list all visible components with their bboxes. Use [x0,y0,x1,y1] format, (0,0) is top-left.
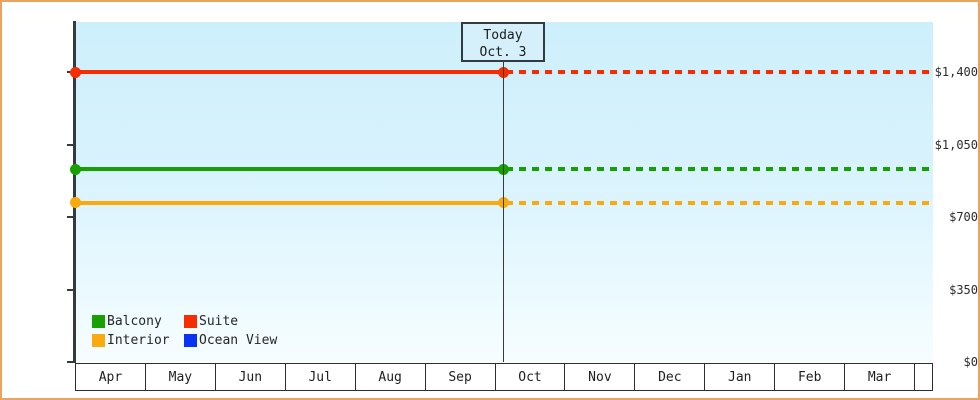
x-axis-month-cell[interactable]: Apr [76,364,146,390]
x-axis-month-cell[interactable]: Jul [286,364,356,390]
today-vertical-line [503,61,504,362]
series-line-actual-balcony [73,167,503,171]
x-axis-month-cell[interactable]: Sep [426,364,496,390]
x-axis-month-cell[interactable]: May [146,364,216,390]
legend-row: BalconySuite [92,312,276,331]
today-tooltip-line2: Oct. 3 [463,44,543,61]
x-axis-month-strip: AprMayJunJulAugSepOctNovDecJanFebMar [75,363,933,391]
x-axis-month-cell[interactable]: Jun [216,364,286,390]
y-axis-tick-label: $1,050 [918,139,978,151]
y-axis-tick [67,289,74,291]
series-point-start-suite[interactable] [70,67,81,78]
y-axis-tick-label: $350 [918,284,978,296]
chart-frame: $0$350$700$1,050$1,400 Today Oct. 3 Balc… [0,0,980,400]
series-line-actual-suite [73,70,503,74]
series-point-start-interior[interactable] [70,197,81,208]
x-axis-month-cell[interactable]: Oct [496,364,566,390]
series-line-actual-interior [73,201,503,205]
series-point-start-balcony[interactable] [70,164,81,175]
y-axis-tick [67,361,74,363]
chart-legend: BalconySuiteInteriorOcean View [92,312,276,350]
legend-item-balcony[interactable]: Balcony [92,315,184,328]
legend-item-ocean-view[interactable]: Ocean View [184,334,276,347]
legend-item-interior[interactable]: Interior [92,334,184,347]
today-tooltip: Today Oct. 3 [461,22,545,62]
x-axis-month-cell[interactable]: Feb [775,364,845,390]
x-axis-month-cell[interactable]: Nov [565,364,635,390]
chart-container: $0$350$700$1,050$1,400 Today Oct. 3 Balc… [0,0,980,400]
legend-item-suite[interactable]: Suite [184,315,276,328]
y-axis-tick [67,216,74,218]
x-axis-month-cell[interactable]: Aug [356,364,426,390]
legend-label: Suite [199,315,238,328]
legend-label: Balcony [107,315,162,328]
legend-swatch-icon [184,334,197,347]
legend-swatch-icon [184,315,197,328]
x-axis-month-cell[interactable]: Dec [635,364,705,390]
legend-label: Interior [107,334,170,347]
series-line-forecast-interior [506,201,933,205]
x-axis-month-cell[interactable]: Jan [705,364,775,390]
y-axis-tick [67,144,74,146]
legend-label: Ocean View [199,334,277,347]
x-axis-month-cell-partial [915,364,933,390]
series-line-forecast-balcony [506,167,933,171]
today-tooltip-line1: Today [463,27,543,44]
x-axis-month-cell[interactable]: Mar [845,364,915,390]
y-axis-tick-label: $700 [918,211,978,223]
legend-row: InteriorOcean View [92,331,276,350]
series-line-forecast-suite [506,70,933,74]
legend-swatch-icon [92,334,105,347]
legend-swatch-icon [92,315,105,328]
